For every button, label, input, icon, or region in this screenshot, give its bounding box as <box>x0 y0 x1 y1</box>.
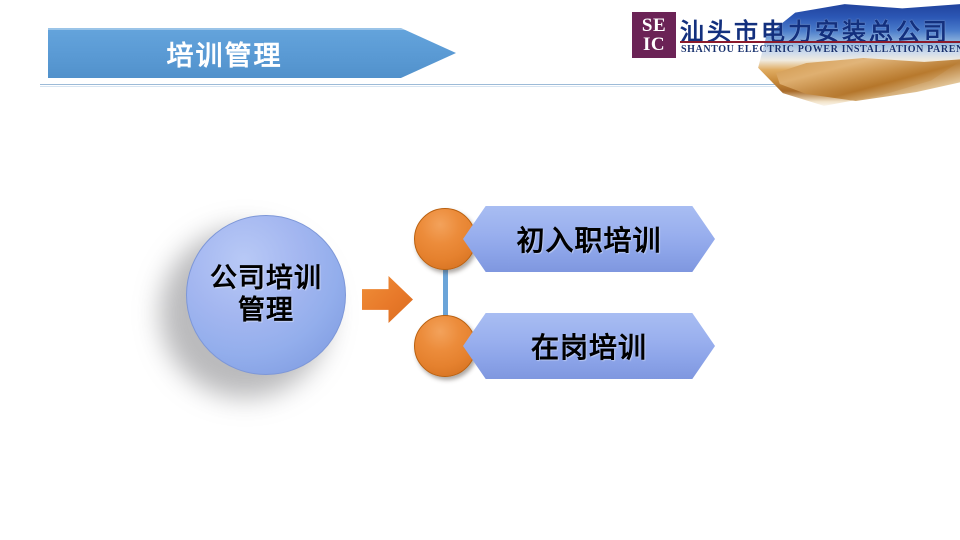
hub-node-company-training-management[interactable]: 公司培训 管理 <box>186 215 346 375</box>
right-arrow-icon <box>362 276 413 323</box>
branch-label-2: 在岗培训 <box>463 313 715 379</box>
branch-chevron-on-the-job-training[interactable]: 在岗培训 <box>463 313 715 379</box>
slide-canvas: 培训管理 SE IC 汕头市电力安装总公司 SHANTOU ELECTRIC P… <box>0 0 960 540</box>
training-management-diagram: 公司培训 管理 初入职培训 在岗培训 <box>0 0 960 540</box>
hub-node-label-line-1: 公司培训 <box>210 263 322 295</box>
hub-node-label-line-2: 管理 <box>210 295 322 327</box>
hub-node-label: 公司培训 管理 <box>210 263 322 327</box>
branch-label-1: 初入职培训 <box>463 206 715 272</box>
branch-chevron-new-employee-training[interactable]: 初入职培训 <box>463 206 715 272</box>
